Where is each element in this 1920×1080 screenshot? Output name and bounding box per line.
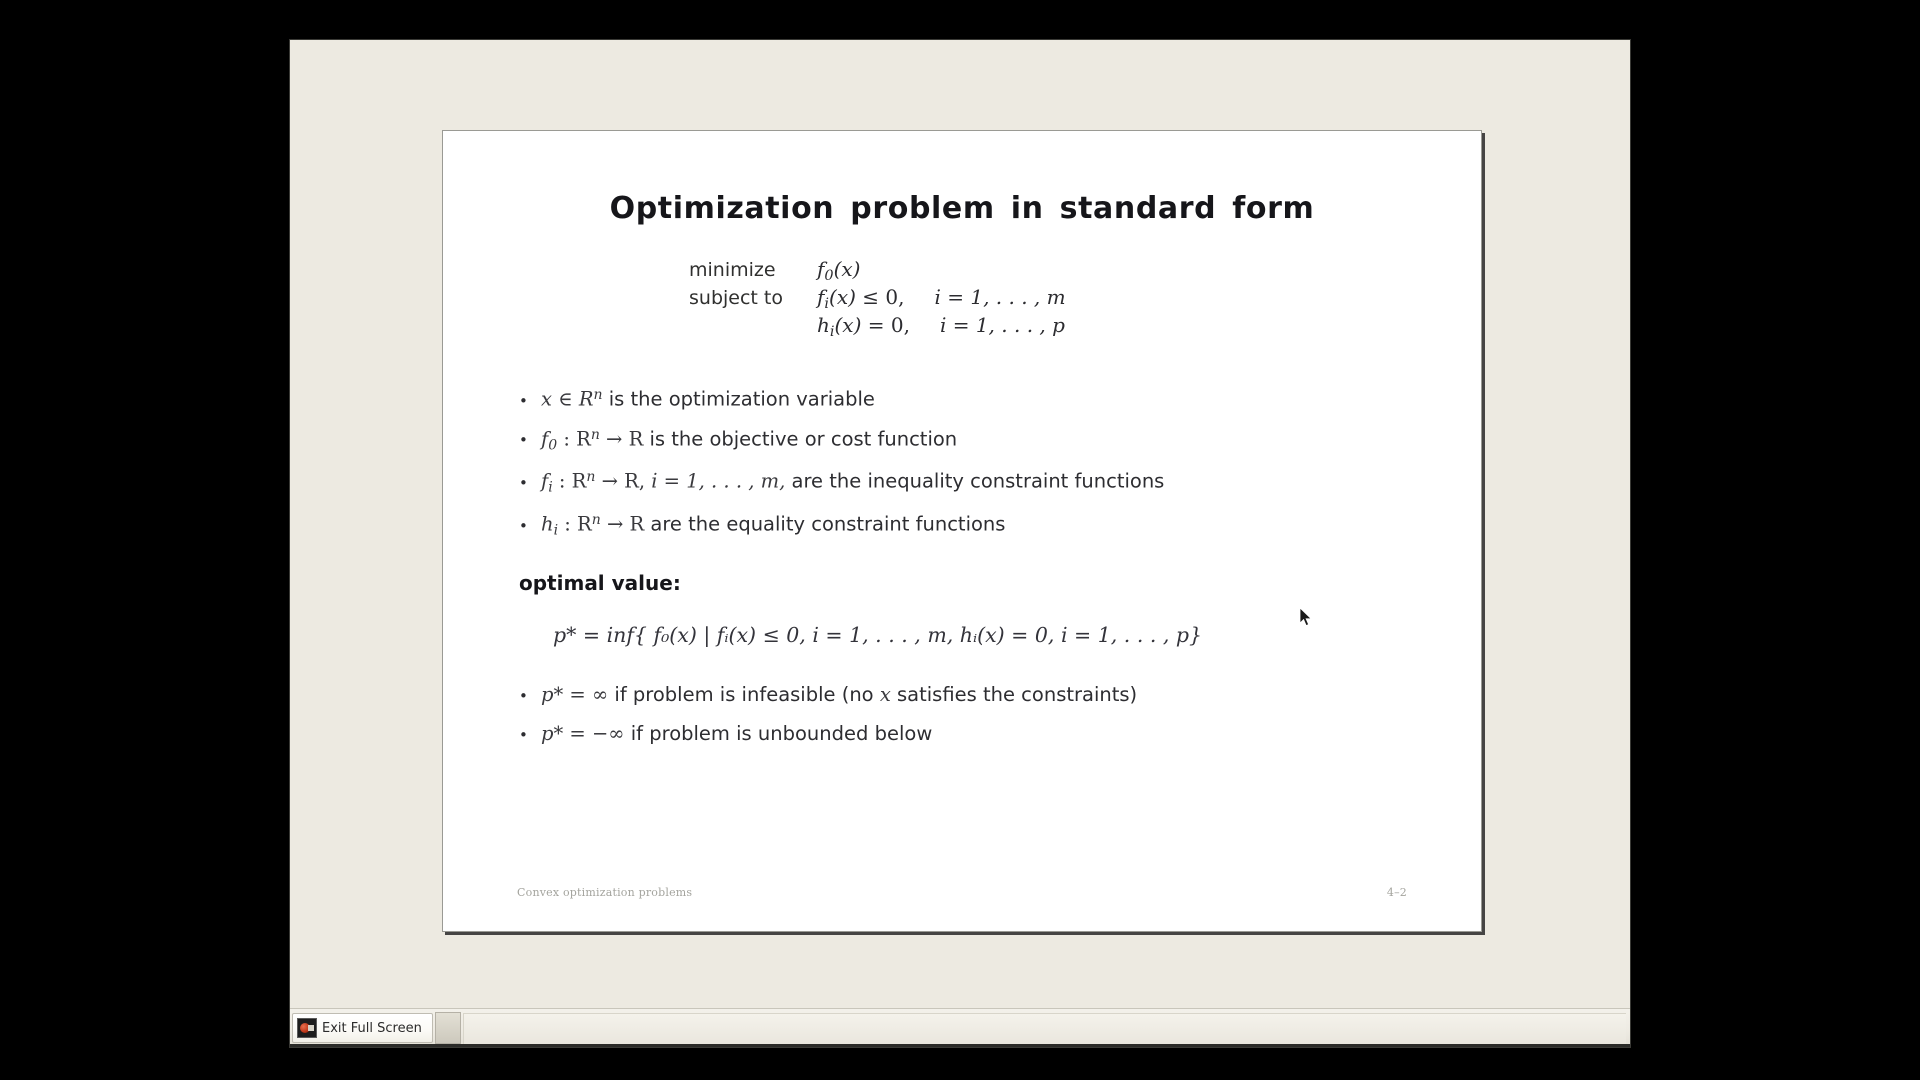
bullet-dot-icon: • (519, 433, 541, 448)
bullet-dot-icon: • (519, 394, 541, 409)
optimization-problem-block: minimize f0(x) subject to fi(x) ≤ 0, (689, 255, 1066, 339)
desktop: Optimization problem in standard form mi… (290, 40, 1630, 1047)
list-item: • x ∈ Rn is the optimization variable (519, 387, 1439, 411)
slide-footer: Convex optimization problems 4–2 (517, 886, 1407, 899)
bullet-dot-icon: • (519, 519, 541, 534)
bullet-dot-icon: • (519, 476, 541, 491)
list-item-text: f0 : Rn → R is the objective or cost fun… (541, 427, 957, 454)
optimal-value-heading: optimal value: (519, 571, 681, 595)
list-item-text: x ∈ Rn is the optimization variable (541, 387, 875, 411)
bullet-list-optimal-value: • p* = ∞ if problem is infeasible (no x … (519, 683, 1439, 761)
taskbar[interactable]: Exit Full Screen (290, 1008, 1630, 1047)
application-icon (297, 1018, 317, 1038)
list-item-text: hi : Rn → R are the equality constraint … (541, 512, 1005, 539)
problem-keyword-subject-to: subject to (689, 284, 817, 312)
bullet-list-definitions: • x ∈ Rn is the optimization variable • … (519, 387, 1439, 555)
list-item: • f0 : Rn → R is the objective or cost f… (519, 427, 1439, 454)
list-item-text: p* = −∞ if problem is unbounded below (541, 722, 932, 745)
slide-card[interactable]: Optimization problem in standard form mi… (442, 130, 1482, 932)
exit-full-screen-button[interactable]: Exit Full Screen (292, 1013, 433, 1043)
problem-index-equality: i = 1, . . . , p (940, 311, 1065, 339)
list-item: • hi : Rn → R are the equality constrain… (519, 512, 1439, 539)
bullet-dot-icon: • (519, 728, 541, 743)
taskbar-grip-handle[interactable] (435, 1012, 461, 1044)
bullet-dot-icon: • (519, 689, 541, 704)
presentation-viewer[interactable]: Optimization problem in standard form mi… (290, 40, 1630, 1008)
slide-title: Optimization problem in standard form (443, 191, 1481, 226)
problem-index-inequality: i = 1, . . . , m (934, 283, 1065, 311)
slide-page-number: 4–2 (1387, 886, 1407, 899)
problem-keyword-minimize: minimize (689, 256, 817, 284)
list-item: • p* = −∞ if problem is unbounded below (519, 722, 1439, 745)
problem-row-inequality: subject to fi(x) ≤ 0, i = 1, . . . , m (689, 283, 1066, 311)
problem-row-minimize: minimize f0(x) (689, 255, 1066, 283)
list-item: • p* = ∞ if problem is infeasible (no x … (519, 683, 1439, 706)
problem-row-equality: hi(x) = 0, i = 1, . . . , p (689, 311, 1066, 339)
list-item: • fi : Rn → R, i = 1, . . . , m, are the… (519, 469, 1439, 496)
screen-letterbox: Optimization problem in standard form mi… (0, 0, 1920, 1080)
optimal-value-equation: p* = inf{ f₀(x) | fᵢ(x) ≤ 0, i = 1, . . … (553, 623, 1202, 647)
taskbar-empty-area[interactable] (463, 1013, 1626, 1044)
list-item-text: p* = ∞ if problem is infeasible (no x sa… (541, 683, 1137, 706)
problem-expression-equality: hi(x) = 0, (817, 311, 910, 346)
exit-full-screen-label: Exit Full Screen (322, 1021, 422, 1036)
list-item-text: fi : Rn → R, i = 1, . . . , m, are the i… (541, 469, 1164, 496)
slide-footer-left: Convex optimization problems (517, 886, 692, 899)
